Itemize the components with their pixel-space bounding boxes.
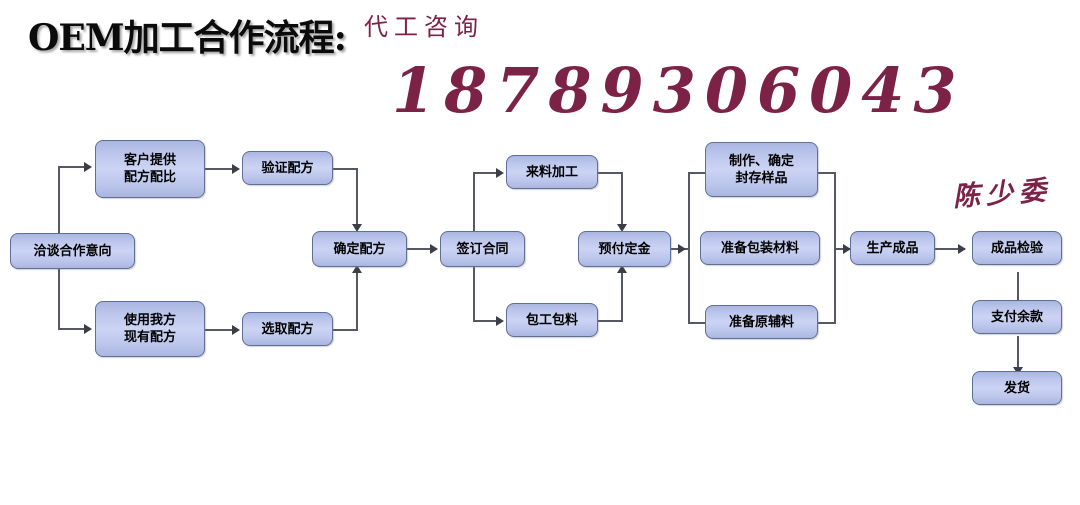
arrow-head bbox=[496, 168, 504, 178]
arrow-head bbox=[496, 316, 504, 326]
node-pay-balance[interactable]: 支付余款 bbox=[972, 300, 1062, 334]
connector-line bbox=[621, 172, 623, 225]
arrow-head bbox=[232, 164, 240, 174]
connector-line bbox=[58, 166, 84, 168]
node-use-our-formula[interactable]: 使用我方 现有配方 bbox=[95, 301, 205, 357]
arrow-head bbox=[958, 244, 966, 254]
node-select-formula[interactable]: 选取配方 bbox=[242, 312, 333, 346]
node-produce-finished-goods[interactable]: 生产成品 bbox=[850, 231, 935, 265]
node-label: 选取配方 bbox=[243, 321, 332, 338]
node-make-confirm-sample[interactable]: 制作、确定 封存样品 bbox=[705, 142, 818, 197]
signature-mark: 陈少委 bbox=[952, 176, 1053, 213]
connector-line bbox=[58, 328, 84, 330]
connector-line bbox=[688, 172, 690, 324]
node-sign-contract[interactable]: 签订合同 bbox=[440, 231, 525, 267]
connector-line bbox=[621, 272, 623, 322]
connector-line bbox=[688, 172, 705, 174]
arrow-head bbox=[232, 325, 240, 335]
node-label: 来料加工 bbox=[507, 164, 597, 181]
connector-line bbox=[333, 168, 358, 170]
arrow-head bbox=[678, 244, 686, 254]
node-prepare-packaging[interactable]: 准备包装材料 bbox=[700, 231, 820, 265]
subtitle-label: 代工咨询 bbox=[364, 12, 484, 42]
node-confirm-formula[interactable]: 确定配方 bbox=[312, 231, 407, 267]
connector-line bbox=[205, 329, 232, 331]
node-label: 客户提供 配方配比 bbox=[96, 152, 204, 186]
arrow-head bbox=[84, 324, 92, 334]
arrow-head bbox=[430, 244, 438, 254]
node-label: 制作、确定 封存样品 bbox=[706, 153, 817, 187]
connector-line bbox=[688, 322, 705, 324]
node-full-package-service[interactable]: 包工包料 bbox=[506, 303, 598, 337]
phone-number: 18789306043 bbox=[392, 56, 966, 126]
connector-line bbox=[58, 166, 60, 236]
node-prepay-deposit[interactable]: 预付定金 bbox=[578, 231, 671, 267]
node-verify-formula[interactable]: 验证配方 bbox=[242, 151, 333, 185]
node-negotiate-intent[interactable]: 洽谈合作意向 bbox=[10, 233, 135, 269]
connector-line bbox=[598, 172, 623, 174]
node-customer-provides-formula[interactable]: 客户提供 配方配比 bbox=[95, 140, 205, 198]
node-label: 洽谈合作意向 bbox=[11, 243, 134, 260]
connector-line bbox=[407, 248, 430, 250]
connector-line bbox=[205, 168, 232, 170]
node-label: 成品检验 bbox=[973, 240, 1061, 257]
connector-line bbox=[58, 268, 60, 330]
arrow-head bbox=[84, 162, 92, 172]
connector-line bbox=[356, 168, 358, 225]
node-label: 预付定金 bbox=[579, 241, 670, 258]
node-shipment[interactable]: 发货 bbox=[972, 371, 1062, 405]
node-label: 准备包装材料 bbox=[701, 240, 819, 257]
node-label: 支付余款 bbox=[973, 309, 1061, 326]
node-material-processing[interactable]: 来料加工 bbox=[506, 155, 598, 189]
node-label: 发货 bbox=[973, 380, 1061, 397]
node-label: 验证配方 bbox=[243, 160, 332, 177]
node-label: 签订合同 bbox=[441, 241, 524, 258]
connector-line bbox=[1017, 336, 1019, 370]
connector-line bbox=[473, 320, 496, 322]
node-finished-goods-inspection[interactable]: 成品检验 bbox=[972, 231, 1062, 265]
page-title: OEM加工合作流程: bbox=[28, 18, 346, 58]
node-label: 使用我方 现有配方 bbox=[96, 312, 204, 346]
node-prepare-raw-materials[interactable]: 准备原辅料 bbox=[705, 305, 818, 339]
flowchart-canvas: OEM加工合作流程: 代工咨询 18789306043 陈少委 bbox=[0, 0, 1080, 505]
node-label: 确定配方 bbox=[313, 241, 406, 258]
connector-line bbox=[598, 320, 623, 322]
node-label: 生产成品 bbox=[851, 240, 934, 257]
connector-line bbox=[473, 172, 496, 174]
connector-line bbox=[356, 272, 358, 331]
node-label: 准备原辅料 bbox=[706, 314, 817, 331]
node-label: 包工包料 bbox=[507, 312, 597, 329]
connector-line bbox=[333, 329, 358, 331]
